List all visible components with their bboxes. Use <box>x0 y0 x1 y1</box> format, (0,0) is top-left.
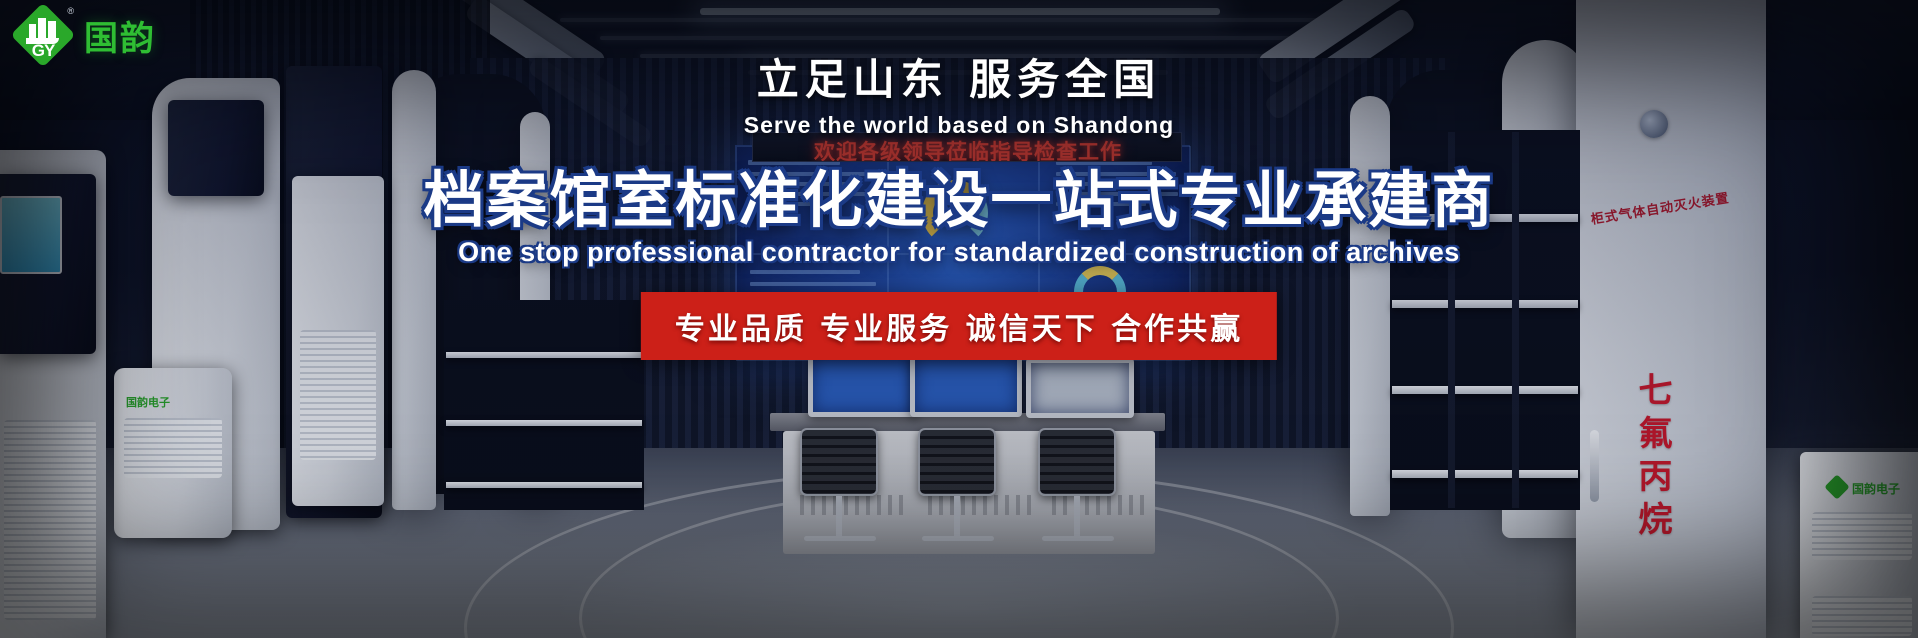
workstation-monitor <box>808 355 918 417</box>
video-wall-text-row <box>750 282 876 286</box>
console-vent <box>928 495 1038 515</box>
equipment-vent-grill <box>124 418 222 478</box>
office-chair-base <box>1042 536 1114 541</box>
shelf-board <box>446 420 642 426</box>
shelf-board <box>446 482 642 488</box>
office-chair-post <box>1074 496 1080 538</box>
hero-eyebrow-en: Serve the world based on Shandong <box>0 112 1918 139</box>
workstation-monitor <box>1026 358 1134 418</box>
ceiling-strip <box>560 18 1360 22</box>
ac-vent-grill <box>4 420 96 620</box>
fire-cabinet-door-handle <box>1590 430 1599 502</box>
shelf-board <box>446 352 642 358</box>
hero-headline-en: One stop professional contractor for sta… <box>0 237 1918 268</box>
equipment-brand-left: 国韵电子 <box>126 394 170 410</box>
logo-building-bar <box>48 21 56 38</box>
office-chair <box>800 428 878 496</box>
slogan-banner-text: 专业品质 专业服务 诚信天下 合作共赢 <box>675 304 1243 348</box>
video-wall-text-row <box>750 270 860 274</box>
hero-headline-cn: 档案馆室标准化建设一站式专业承建商 <box>0 150 1918 239</box>
logo-building-bar <box>38 18 46 38</box>
archive-shelving-left <box>444 300 644 510</box>
console-vent <box>800 495 910 515</box>
hero-eyebrow-cn: 立足山东 服务全国 <box>0 46 1918 107</box>
ceiling-light <box>700 8 1220 15</box>
wall-label-vertical: 七氟丙烷 <box>1628 372 1677 544</box>
hero-banner: 欢迎各级领导莅临指导检查工作 柜式气体自动灭火装置 七氟丙烷 <box>0 0 1918 638</box>
ac-vent-grill <box>1812 512 1912 560</box>
registered-mark-icon: ® <box>67 6 74 16</box>
slogan-banner: 专业品质 专业服务 诚信天下 合作共赢 <box>641 292 1277 360</box>
equipment-vent-grill <box>300 330 376 460</box>
equipment-brand-right: 国韵电子 <box>1852 480 1900 497</box>
shelf-board <box>1392 470 1578 478</box>
workstation-monitor <box>910 355 1022 417</box>
office-chair-base <box>804 536 876 541</box>
logo-building-bar <box>29 24 36 38</box>
office-chair <box>1038 428 1116 496</box>
console-vent <box>1052 495 1147 515</box>
office-chair-post <box>954 496 960 538</box>
office-chair-post <box>836 496 842 538</box>
shelf-board <box>1392 300 1578 308</box>
ceiling-strip <box>600 36 1320 40</box>
ac-vent-grill <box>1812 596 1912 636</box>
office-chair <box>918 428 996 496</box>
office-chair-base <box>922 536 994 541</box>
shelf-board <box>1392 386 1578 394</box>
